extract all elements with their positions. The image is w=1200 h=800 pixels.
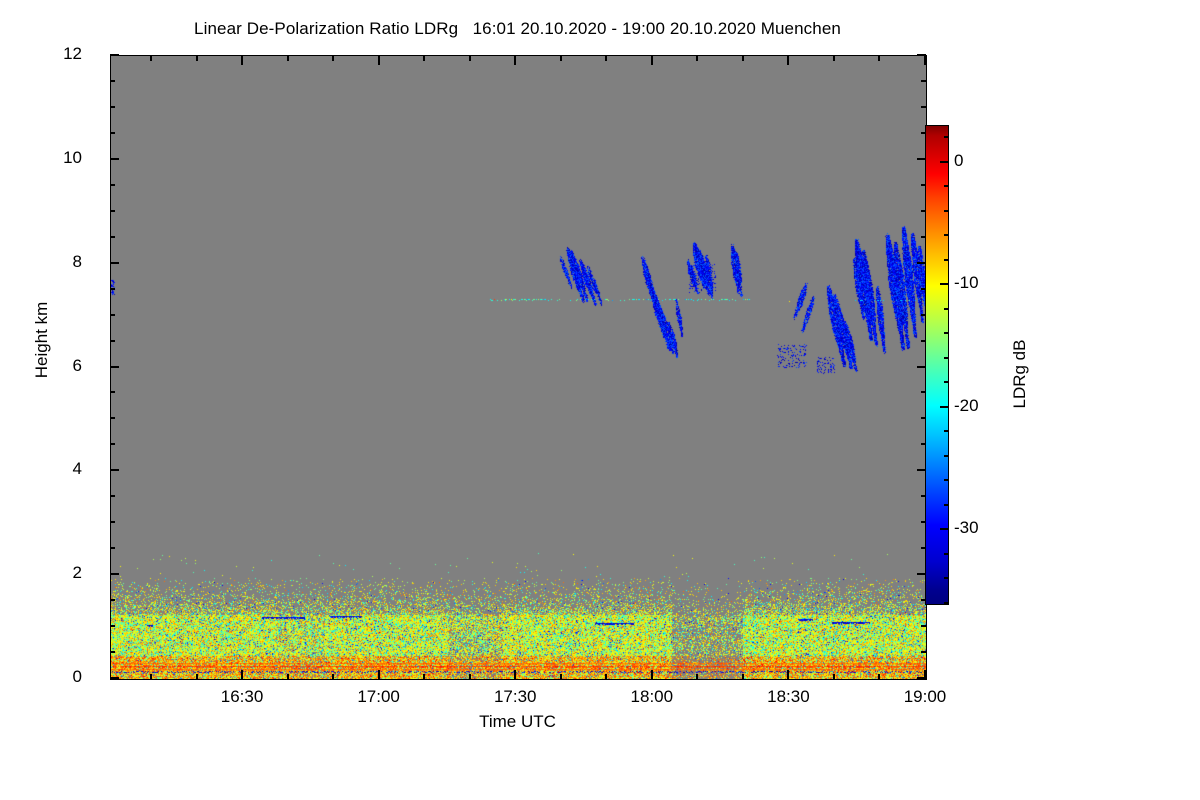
- x-tick-minor: [196, 674, 198, 679]
- x-tick-label: 19:00: [880, 687, 970, 707]
- x-tick-major: [924, 670, 926, 679]
- y-tick-major: [110, 54, 119, 56]
- x-tick-major-top: [514, 56, 516, 65]
- y-tick-label: 12: [22, 44, 82, 64]
- colorbar-tick-major: [940, 283, 948, 285]
- colorbar-tick-label: -20: [954, 396, 979, 416]
- x-tick-label: 16:30: [197, 687, 287, 707]
- x-tick-minor-top: [696, 56, 698, 61]
- x-tick-major-top: [378, 56, 380, 65]
- x-tick-minor-top: [150, 56, 152, 61]
- colorbar-tick-minor: [944, 455, 948, 457]
- radar-ldr-figure: Linear De-Polarization Ratio LDRg 16:01 …: [0, 0, 1200, 800]
- y-tick-minor: [110, 236, 115, 238]
- colorbar-tick-minor: [944, 136, 948, 138]
- y-tick-minor: [110, 184, 115, 186]
- colorbar-tick-major: [940, 528, 948, 530]
- y-tick-minor: [110, 132, 115, 134]
- x-tick-minor-top: [833, 56, 835, 61]
- x-tick-major: [241, 670, 243, 679]
- x-tick-minor-top: [560, 56, 562, 61]
- y-tick-minor: [110, 340, 115, 342]
- y-tick-minor: [110, 417, 115, 419]
- y-tick-label: 0: [22, 667, 82, 687]
- colorbar-tick-minor: [944, 332, 948, 334]
- y-tick-major: [110, 262, 119, 264]
- y-tick-minor: [110, 288, 115, 290]
- x-tick-minor-top: [332, 56, 334, 61]
- x-tick-minor: [560, 674, 562, 679]
- colorbar-tick-minor: [944, 357, 948, 359]
- x-tick-minor: [150, 674, 152, 679]
- y-tick-label: 4: [22, 459, 82, 479]
- x-tick-minor-top: [742, 56, 744, 61]
- x-tick-minor: [742, 674, 744, 679]
- x-tick-major: [651, 670, 653, 679]
- y-axis-title: Height km: [32, 270, 52, 410]
- x-tick-major: [787, 670, 789, 679]
- colorbar-tick-minor: [944, 479, 948, 481]
- y-tick-minor: [110, 314, 115, 316]
- y-tick-minor: [110, 210, 115, 212]
- colorbar-tick-minor: [944, 504, 948, 506]
- colorbar-tick-label: -10: [954, 273, 979, 293]
- colorbar-title: LDRg dB: [1010, 294, 1030, 454]
- y-tick-minor: [110, 521, 115, 523]
- y-tick-minor: [110, 80, 115, 82]
- plot-area: [110, 55, 927, 680]
- x-tick-minor: [833, 674, 835, 679]
- y-tick-minor: [110, 443, 115, 445]
- y-tick-minor: [110, 625, 115, 627]
- colorbar-tick-minor: [944, 308, 948, 310]
- y-tick-minor: [110, 106, 115, 108]
- y-tick-minor-right: [921, 106, 926, 108]
- y-tick-label: 6: [22, 356, 82, 376]
- y-tick-minor-right: [921, 80, 926, 82]
- y-tick-minor: [110, 495, 115, 497]
- colorbar-tick-minor: [944, 577, 948, 579]
- x-tick-label: 17:30: [470, 687, 560, 707]
- x-tick-minor: [696, 674, 698, 679]
- x-tick-minor-top: [469, 56, 471, 61]
- x-tick-minor-top: [878, 56, 880, 61]
- colorbar-tick-minor: [944, 234, 948, 236]
- x-tick-minor: [605, 674, 607, 679]
- colorbar-tick-minor: [944, 259, 948, 261]
- y-tick-label: 8: [22, 252, 82, 272]
- y-tick-minor: [110, 651, 115, 653]
- x-tick-minor: [878, 674, 880, 679]
- colorbar-tick-major: [940, 161, 948, 163]
- ldr-heatmap-canvas: [111, 56, 926, 679]
- colorbar-tick-major: [940, 406, 948, 408]
- colorbar-tick-minor: [944, 553, 948, 555]
- x-tick-major-top: [241, 56, 243, 65]
- y-tick-major: [110, 573, 119, 575]
- x-tick-label: 18:30: [743, 687, 833, 707]
- x-tick-label: 17:00: [334, 687, 424, 707]
- figure-title: Linear De-Polarization Ratio LDRg 16:01 …: [0, 19, 1035, 39]
- y-tick-minor: [110, 599, 115, 601]
- colorbar-tick-minor: [944, 381, 948, 383]
- y-tick-major: [110, 469, 119, 471]
- x-tick-minor: [332, 674, 334, 679]
- y-tick-label: 10: [22, 148, 82, 168]
- y-tick-major: [110, 366, 119, 368]
- colorbar-tick-label: 0: [954, 151, 963, 171]
- x-tick-minor: [423, 674, 425, 679]
- y-tick-major: [110, 158, 119, 160]
- y-tick-minor-right: [921, 651, 926, 653]
- y-tick-minor-right: [921, 625, 926, 627]
- x-tick-major-top: [924, 56, 926, 65]
- colorbar: [925, 125, 949, 605]
- colorbar-tick-minor: [944, 430, 948, 432]
- x-tick-major-top: [651, 56, 653, 65]
- x-tick-minor: [469, 674, 471, 679]
- x-tick-minor-top: [287, 56, 289, 61]
- y-tick-minor: [110, 547, 115, 549]
- colorbar-tick-minor: [944, 602, 948, 604]
- x-axis-title: Time UTC: [110, 712, 925, 732]
- x-tick-label: 18:00: [607, 687, 697, 707]
- x-tick-minor-top: [423, 56, 425, 61]
- colorbar-gradient: [926, 126, 948, 604]
- x-tick-minor-top: [196, 56, 198, 61]
- x-tick-major: [514, 670, 516, 679]
- x-tick-minor: [287, 674, 289, 679]
- colorbar-tick-minor: [944, 210, 948, 212]
- colorbar-tick-label: -30: [954, 518, 979, 538]
- y-tick-label: 2: [22, 563, 82, 583]
- y-tick-minor: [110, 391, 115, 393]
- x-tick-major-top: [787, 56, 789, 65]
- x-tick-minor-top: [605, 56, 607, 61]
- x-tick-major: [378, 670, 380, 679]
- y-tick-major: [110, 677, 119, 679]
- colorbar-tick-minor: [944, 185, 948, 187]
